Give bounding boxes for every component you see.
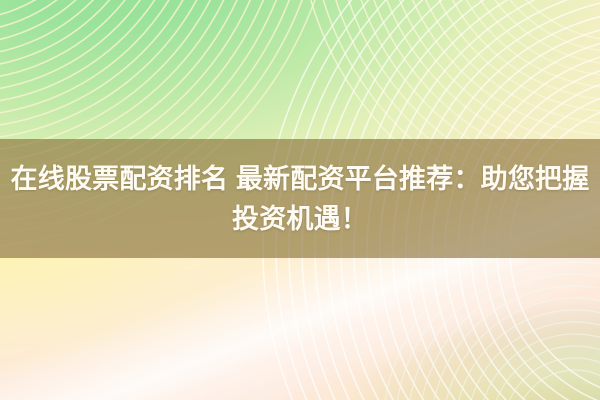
- background-warm-left-wash: [0, 255, 600, 400]
- article-banner-image: 在线股票配资排名 最新配资平台推荐：助您把握投资机遇！: [0, 0, 600, 400]
- page-title: 在线股票配资排名 最新配资平台推荐：助您把握投资机遇！: [0, 159, 600, 239]
- headline-band: 在线股票配资排名 最新配资平台推荐：助您把握投资机遇！: [0, 139, 600, 258]
- background-gradient-bottom: [0, 255, 600, 400]
